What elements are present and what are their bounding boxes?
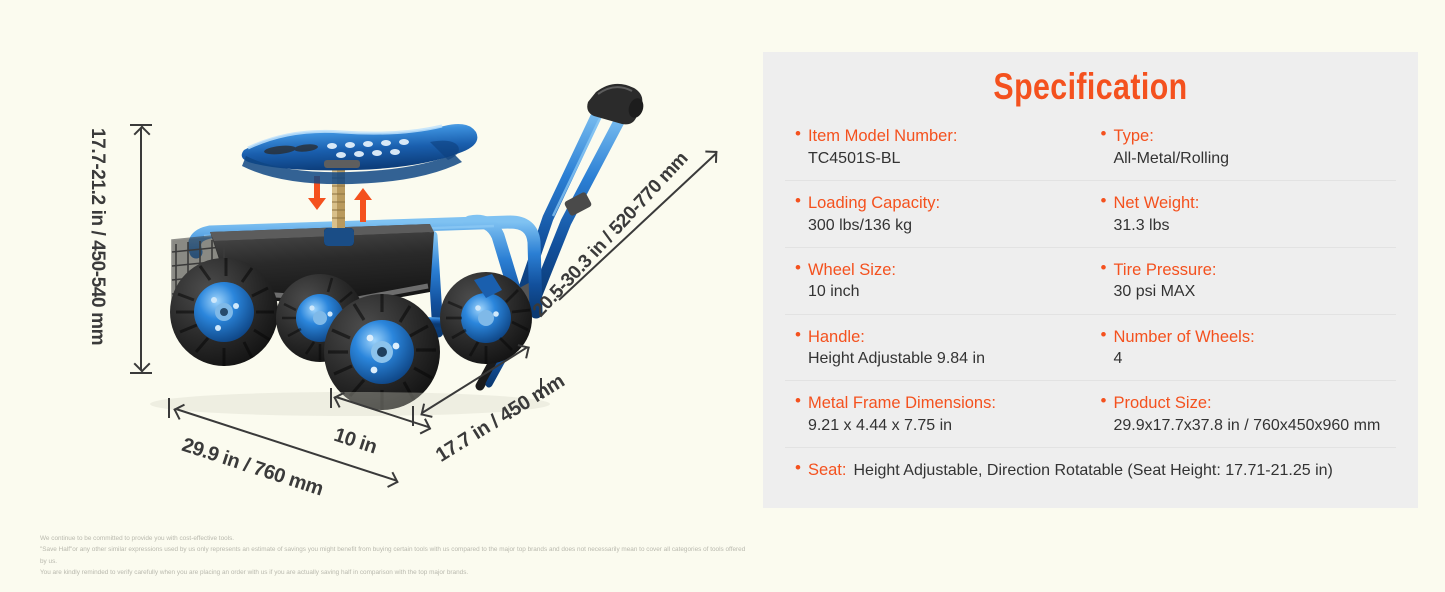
seat-height-tick-bottom <box>130 372 152 374</box>
spec-row: • Loading Capacity: 300 lbs/136 kg • Net… <box>785 180 1396 247</box>
bullet-icon: • <box>795 392 801 437</box>
bullet-icon: • <box>795 125 801 170</box>
spec-value: 31.3 lbs <box>1113 215 1199 237</box>
spec-value: 4 <box>1113 348 1254 370</box>
spec-value: TC4501S-BL <box>808 148 957 170</box>
spec-key: Wheel Size: <box>808 259 896 282</box>
spec-value: 300 lbs/136 kg <box>808 215 940 237</box>
spec-item-net-weight: • Net Weight: 31.3 lbs <box>1091 192 1397 237</box>
spec-item-handle: • Handle: Height Adjustable 9.84 in <box>785 326 1091 371</box>
spec-row: • Metal Frame Dimensions: 9.21 x 4.44 x … <box>785 380 1396 447</box>
spec-key: Net Weight: <box>1113 192 1199 215</box>
bullet-icon: • <box>1101 392 1107 437</box>
spec-item-loading-capacity: • Loading Capacity: 300 lbs/136 kg <box>785 192 1091 237</box>
spec-item-number-of-wheels: • Number of Wheels: 4 <box>1091 326 1397 371</box>
spec-value: Height Adjustable, Direction Rotatable (… <box>853 460 1332 482</box>
spec-row: • Handle: Height Adjustable 9.84 in • Nu… <box>785 314 1396 381</box>
wheel-size-tick-left <box>330 388 332 408</box>
product-illustration <box>0 0 762 592</box>
wheel-size-tick-right <box>412 406 414 426</box>
spec-key: Handle: <box>808 326 985 349</box>
disclaimer-line-1: We continue to be committed to provide y… <box>40 533 750 544</box>
seat-height-arrow <box>140 128 142 370</box>
spec-row: • Item Model Number: TC4501S-BL • Type: … <box>785 122 1396 180</box>
spec-item-tire-pressure: • Tire Pressure: 30 psi MAX <box>1091 259 1397 304</box>
bullet-icon: • <box>795 326 801 371</box>
spec-value: 9.21 x 4.44 x 7.75 in <box>808 415 996 437</box>
spec-row: • Seat: Height Adjustable, Direction Rot… <box>785 447 1396 492</box>
bullet-icon: • <box>795 459 801 482</box>
spec-item-product-size: • Product Size: 29.9x17.7x37.8 in / 760x… <box>1091 392 1397 437</box>
spec-row: • Wheel Size: 10 inch • Tire Pressure: 3… <box>785 247 1396 314</box>
spec-key: Type: <box>1113 125 1229 148</box>
product-image-panel: 17.7-21.2 in / 450-540 mm 20.5-30.3 in /… <box>0 0 762 592</box>
spec-key: Loading Capacity: <box>808 192 940 215</box>
bullet-icon: • <box>1101 326 1107 371</box>
legal-disclaimer: We continue to be committed to provide y… <box>40 533 750 579</box>
spec-value: 10 inch <box>808 281 896 303</box>
bullet-icon: • <box>1101 259 1107 304</box>
spec-key: Item Model Number: <box>808 125 957 148</box>
wheel-rear-left <box>170 258 278 366</box>
bullet-icon: • <box>1101 192 1107 237</box>
spec-key: Product Size: <box>1113 392 1380 415</box>
disclaimer-line-2: "Save Half"or any other similar expressi… <box>40 544 750 567</box>
spec-value: All-Metal/Rolling <box>1113 148 1229 170</box>
spec-item-item-model-number: • Item Model Number: TC4501S-BL <box>785 125 1091 170</box>
spec-key: Tire Pressure: <box>1113 259 1216 282</box>
spec-item-type: • Type: All-Metal/Rolling <box>1091 125 1397 170</box>
bullet-icon: • <box>795 192 801 237</box>
spec-key: Seat: <box>808 459 847 482</box>
dimension-seat-height: 17.7-21.2 in / 450-540 mm <box>86 128 108 345</box>
spec-item-metal-frame-dimensions: • Metal Frame Dimensions: 9.21 x 4.44 x … <box>785 392 1091 437</box>
spec-key: Number of Wheels: <box>1113 326 1254 349</box>
disclaimer-line-3: You are kindly reminded to verify carefu… <box>40 567 750 578</box>
bullet-icon: • <box>1101 125 1107 170</box>
spec-value: 30 psi MAX <box>1113 281 1216 303</box>
tractor-seat <box>242 124 478 184</box>
spec-item-wheel-size: • Wheel Size: 10 inch <box>785 259 1091 304</box>
seat-height-tick-top <box>130 124 152 126</box>
spec-value: 29.9x17.7x37.8 in / 760x450x960 mm <box>1113 415 1380 437</box>
overall-length-tick-left <box>168 398 170 418</box>
spec-value: Height Adjustable 9.84 in <box>808 348 985 370</box>
bullet-icon: • <box>795 259 801 304</box>
specification-panel: Specification • Item Model Number: TC450… <box>763 52 1418 508</box>
spec-item-seat: • Seat: Height Adjustable, Direction Rot… <box>785 459 1396 482</box>
spec-key: Metal Frame Dimensions: <box>808 392 996 415</box>
specification-title: Specification <box>840 52 1341 108</box>
